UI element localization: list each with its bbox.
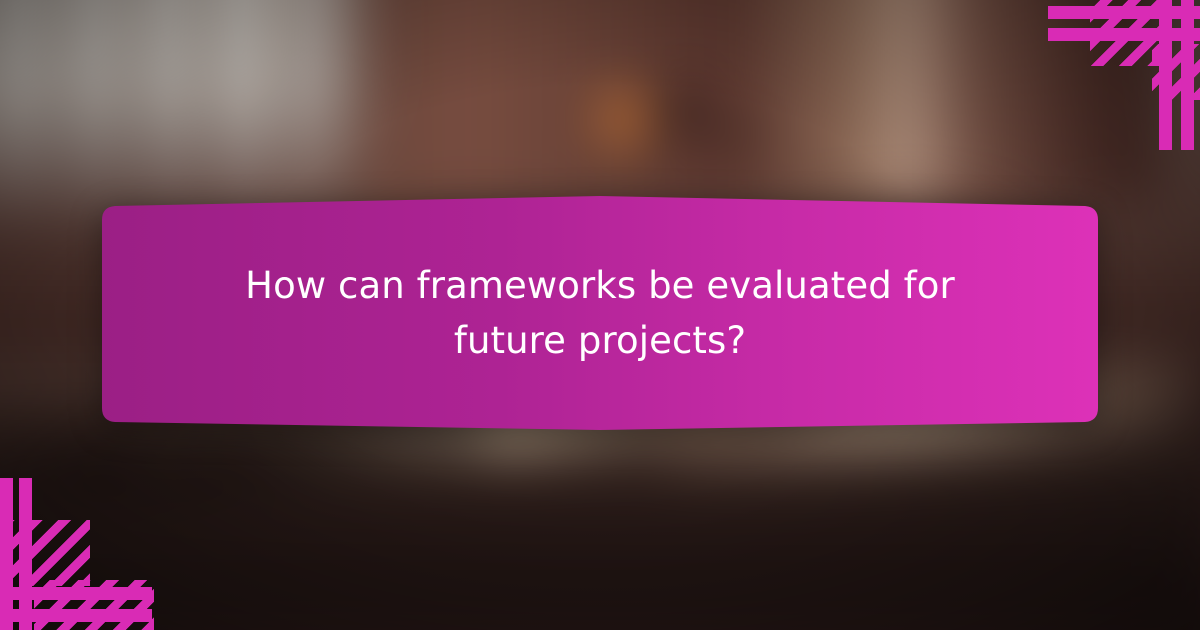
banner-text-container: How can frameworks be evaluated for futu… [160, 190, 1040, 438]
corner-ornament-top-right [1030, 0, 1200, 150]
ornament-bar-vertical [19, 478, 32, 630]
ornament-bar-horizontal [1048, 6, 1200, 19]
poster-canvas: How can frameworks be evaluated for futu… [0, 0, 1200, 630]
ornament-bar-vertical [1181, 0, 1194, 150]
ornament-bar-horizontal [0, 587, 152, 600]
ornament-bar-horizontal [1048, 28, 1200, 41]
corner-ornament-bottom-left [0, 475, 170, 630]
ornament-bar-vertical [0, 478, 13, 630]
ornament-bar-horizontal [0, 609, 152, 622]
ornament-bar-vertical [1159, 0, 1172, 150]
hatch-block-icon [0, 520, 90, 586]
headline-banner: How can frameworks be evaluated for futu… [100, 190, 1100, 438]
headline-text: How can frameworks be evaluated for futu… [200, 259, 1000, 369]
